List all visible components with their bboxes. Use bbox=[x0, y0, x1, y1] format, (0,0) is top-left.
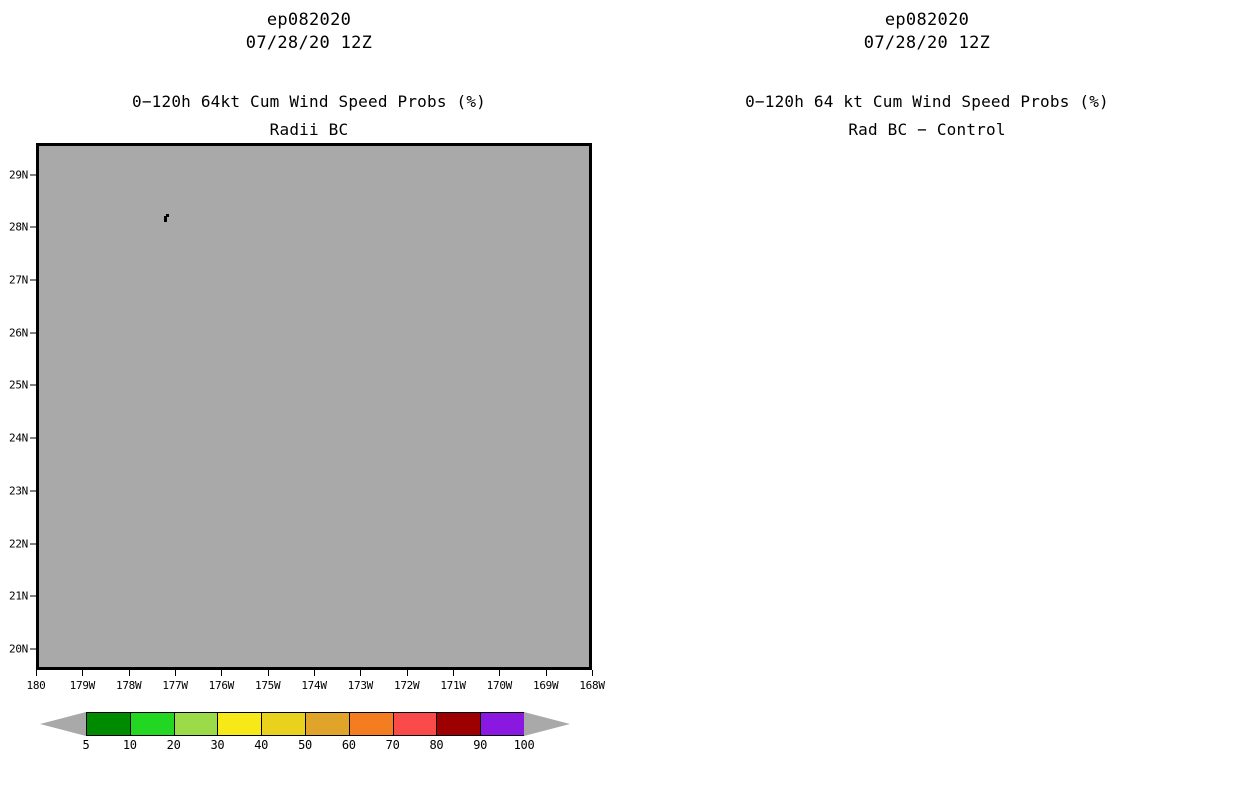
latitude-axis-left: 29N28N27N26N25N24N23N22N21N20N bbox=[0, 143, 36, 670]
title-datetime-left: 07/28/20 12Z bbox=[0, 33, 618, 53]
longitude-tick-mark bbox=[221, 670, 222, 676]
latitude-tick-mark bbox=[30, 174, 36, 175]
colorbar-segment bbox=[130, 712, 174, 736]
colorbar-segment bbox=[393, 712, 437, 736]
latitude-tick-mark bbox=[30, 227, 36, 228]
longitude-tick-mark bbox=[546, 670, 547, 676]
longitude-tick-mark bbox=[36, 670, 37, 676]
map-plot-left: 29N28N27N26N25N24N23N22N21N20N 180179W17… bbox=[36, 143, 592, 670]
colorbar-left: 5102030405060708090100 bbox=[40, 712, 570, 772]
colorbar-segment bbox=[436, 712, 480, 736]
longitude-tick-mark bbox=[453, 670, 454, 676]
colorbar-segment bbox=[305, 712, 349, 736]
latitude-tick-label: 29N bbox=[9, 168, 28, 181]
latitude-tick-label: 26N bbox=[9, 326, 28, 339]
latitude-tick-mark bbox=[30, 438, 36, 439]
longitude-tick-label: 173W bbox=[348, 679, 373, 692]
colorbar-tick-label: 5 bbox=[83, 738, 90, 752]
colorbar-tick-label: 60 bbox=[342, 738, 356, 752]
longitude-tick-label: 179W bbox=[70, 679, 95, 692]
longitude-tick-label: 180 bbox=[27, 679, 46, 692]
longitude-tick-mark bbox=[592, 670, 593, 676]
latitude-tick-mark bbox=[30, 332, 36, 333]
longitude-tick-label: 169W bbox=[533, 679, 558, 692]
colorbar-tick-label: 70 bbox=[386, 738, 400, 752]
longitude-tick-label: 175W bbox=[255, 679, 280, 692]
land-speck-icon bbox=[164, 216, 167, 222]
colorbar-segment bbox=[480, 712, 524, 736]
longitude-tick-mark bbox=[175, 670, 176, 676]
colorbar-cap-high bbox=[524, 712, 570, 736]
latitude-tick-label: 27N bbox=[9, 274, 28, 287]
map-frame-left bbox=[36, 143, 592, 670]
latitude-tick-mark bbox=[30, 385, 36, 386]
page-title-storm-id-left: ep082020 bbox=[0, 10, 618, 30]
panel-rad-bc-control: ep082020 07/28/20 12Z 0−120h 64 kt Cum W… bbox=[618, 0, 1236, 800]
colorbar-tick-label: 20 bbox=[167, 738, 181, 752]
colorbar-segment bbox=[217, 712, 261, 736]
latitude-tick-label: 21N bbox=[9, 590, 28, 603]
colorbar-cap-low bbox=[40, 712, 86, 736]
title-subproduct-right: Rad BC − Control bbox=[618, 120, 1236, 139]
longitude-tick-label: 178W bbox=[116, 679, 141, 692]
latitude-tick-label: 28N bbox=[9, 221, 28, 234]
longitude-tick-label: 176W bbox=[209, 679, 234, 692]
latitude-tick-mark bbox=[30, 648, 36, 649]
longitude-tick-label: 177W bbox=[162, 679, 187, 692]
colorbar-segment bbox=[349, 712, 393, 736]
latitude-tick-mark bbox=[30, 490, 36, 491]
latitude-tick-mark bbox=[30, 543, 36, 544]
colorbar-tick-label: 100 bbox=[514, 738, 535, 752]
colorbar-tick-label: 50 bbox=[298, 738, 312, 752]
gridlines-left bbox=[39, 146, 589, 667]
panel-radii-bc: ep082020 07/28/20 12Z 0−120h 64kt Cum Wi… bbox=[0, 0, 618, 800]
page-title-storm-id-right: ep082020 bbox=[618, 10, 1236, 30]
longitude-tick-label: 170W bbox=[487, 679, 512, 692]
longitude-axis-left: 180179W178W177W176W175W174W173W172W171W1… bbox=[36, 670, 592, 700]
latitude-tick-label: 25N bbox=[9, 379, 28, 392]
colorbar-tick-label: 40 bbox=[254, 738, 268, 752]
longitude-tick-mark bbox=[82, 670, 83, 676]
colorbar-tick-label: 30 bbox=[210, 738, 224, 752]
latitude-tick-mark bbox=[30, 596, 36, 597]
longitude-tick-mark bbox=[360, 670, 361, 676]
latitude-tick-label: 22N bbox=[9, 537, 28, 550]
longitude-tick-mark bbox=[268, 670, 269, 676]
longitude-tick-label: 171W bbox=[440, 679, 465, 692]
colorbar-segment bbox=[174, 712, 218, 736]
colorbar-segment bbox=[261, 712, 305, 736]
colorbar-tick-label: 10 bbox=[123, 738, 137, 752]
longitude-tick-mark bbox=[407, 670, 408, 676]
longitude-tick-label: 172W bbox=[394, 679, 419, 692]
colorbar-tick-label: 90 bbox=[473, 738, 487, 752]
colorbar-segment bbox=[86, 712, 130, 736]
longitude-tick-label: 174W bbox=[301, 679, 326, 692]
latitude-tick-mark bbox=[30, 280, 36, 281]
colorbar-tick-label: 80 bbox=[429, 738, 443, 752]
title-product-right: 0−120h 64 kt Cum Wind Speed Probs (%) bbox=[618, 92, 1236, 111]
longitude-tick-mark bbox=[129, 670, 130, 676]
longitude-tick-mark bbox=[314, 670, 315, 676]
title-subproduct-left: Radii BC bbox=[0, 120, 618, 139]
latitude-tick-label: 24N bbox=[9, 432, 28, 445]
title-product-left: 0−120h 64kt Cum Wind Speed Probs (%) bbox=[0, 92, 618, 111]
longitude-tick-mark bbox=[499, 670, 500, 676]
latitude-tick-label: 23N bbox=[9, 484, 28, 497]
title-datetime-right: 07/28/20 12Z bbox=[618, 33, 1236, 53]
longitude-tick-label: 168W bbox=[579, 679, 604, 692]
latitude-tick-label: 20N bbox=[9, 642, 28, 655]
